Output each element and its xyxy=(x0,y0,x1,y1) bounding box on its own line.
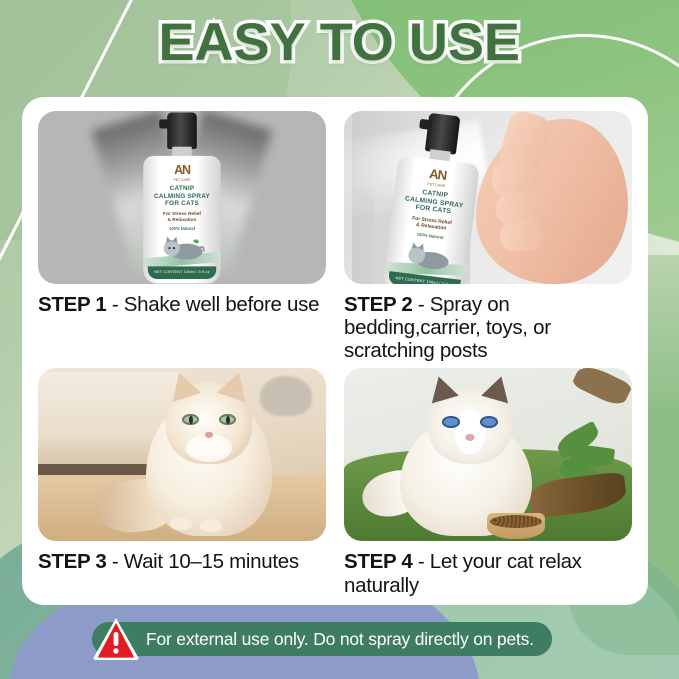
cat-pupil-right xyxy=(226,416,230,424)
branch-upper xyxy=(571,368,632,409)
food-bowl xyxy=(487,513,545,539)
bottle-title-line-3: FOR CATS xyxy=(165,200,199,207)
steps-grid: AN PET CARE CATNIP CALMING SPRAY FOR CAT… xyxy=(38,111,632,595)
cat-ear-right xyxy=(217,368,254,402)
cat-eye-left xyxy=(182,414,199,425)
bottle-logo: AN xyxy=(174,165,190,178)
cat-head xyxy=(428,388,512,464)
bottle-subtitle: For Stress Relief & Relaxation xyxy=(143,211,221,223)
step-1-text: - Shake well before use xyxy=(106,293,319,316)
step-4-label: STEP 4 xyxy=(344,550,412,573)
bottle-nozzle-icon xyxy=(167,113,197,149)
step-2-label: STEP 2 xyxy=(344,293,412,316)
bottle-subtitle-line-1: For Stress Relief xyxy=(163,211,201,217)
cat-eye-right xyxy=(480,416,498,428)
bottle-net-content: NET CONTENT 100ml / 3 fl oz xyxy=(148,266,216,279)
step-item-3: STEP 3 - Wait 10–15 minutes xyxy=(38,368,326,596)
bottle-body: AN PET CARE CATNIP CALMING SPRAY FOR CAT… xyxy=(143,156,221,284)
scratching-post xyxy=(260,376,312,416)
bottle-cat-illustration-icon xyxy=(159,236,205,261)
step-2-photo: AN PET CARE CATNIP CALMING SPRAY FOR CAT… xyxy=(344,111,632,284)
cat-nose xyxy=(205,432,213,438)
step-4-photo xyxy=(344,368,632,541)
bottle-cat-illustration-icon xyxy=(402,240,453,272)
bottle-title: CATNIP CALMING SPRAY FOR CATS xyxy=(143,185,221,208)
warning-triangle-icon xyxy=(92,616,140,661)
page-title: EASY TO USE xyxy=(159,16,521,69)
finger-little xyxy=(499,220,545,252)
cat-face-blaze xyxy=(455,410,485,454)
step-3-photo xyxy=(38,368,326,541)
bottle-natural-claim: 100% Natural xyxy=(143,227,221,232)
warning-banner: For external use only. Do not spray dire… xyxy=(92,622,552,656)
step-item-2: AN PET CARE CATNIP CALMING SPRAY FOR CAT… xyxy=(344,111,632,362)
warning-text: For external use only. Do not spray dire… xyxy=(146,629,534,650)
step-item-1: AN PET CARE CATNIP CALMING SPRAY FOR CAT… xyxy=(38,111,326,362)
cat-head xyxy=(166,382,252,464)
warning-pill: For external use only. Do not spray dire… xyxy=(92,622,552,656)
cat-ear-left xyxy=(425,373,459,404)
cat-eye-right xyxy=(219,414,236,425)
cat-pupil-left xyxy=(189,416,193,424)
cat-nose xyxy=(466,434,475,441)
cat-paw-left xyxy=(170,517,192,530)
step-item-4: STEP 4 - Let your cat relax naturally xyxy=(344,368,632,596)
bottle-subtitle-line-2: & Relaxation xyxy=(168,217,197,223)
cat-muzzle xyxy=(186,434,232,462)
spray-bottle: AN PET CARE CATNIP CALMING SPRAY FOR CAT… xyxy=(143,113,221,284)
bottle-brand: PET CARE xyxy=(427,181,445,188)
kibble xyxy=(490,515,542,528)
step-3-text: - Wait 10–15 minutes xyxy=(106,550,298,573)
bottle-title-line-1: CATNIP xyxy=(170,185,195,192)
step-3-label: STEP 3 xyxy=(38,550,106,573)
cat-paw-right xyxy=(200,519,222,532)
step-4-caption: STEP 4 - Let your cat relax naturally xyxy=(344,550,632,596)
bottle-title-line-2: CALMING SPRAY xyxy=(154,193,210,200)
infographic-page: EASY TO USE AN PET CARE xyxy=(0,0,679,679)
bottle-body: AN PET CARE CATNIP CALMING SPRAY FOR CAT… xyxy=(383,155,480,284)
step-1-photo: AN PET CARE CATNIP CALMING SPRAY FOR CAT… xyxy=(38,111,326,284)
bottle-brand: PET CARE xyxy=(173,177,190,182)
step-1-label: STEP 1 xyxy=(38,293,106,316)
step-2-caption: STEP 2 - Spray on bedding,carrier, toys,… xyxy=(344,293,632,362)
steps-card: AN PET CARE CATNIP CALMING SPRAY FOR CAT… xyxy=(22,97,648,605)
page-title-container: EASY TO USE xyxy=(0,16,679,69)
step-1-caption: STEP 1 - Shake well before use xyxy=(38,293,326,316)
cat-ear-right xyxy=(481,373,515,404)
step-3-caption: STEP 3 - Wait 10–15 minutes xyxy=(38,550,326,573)
